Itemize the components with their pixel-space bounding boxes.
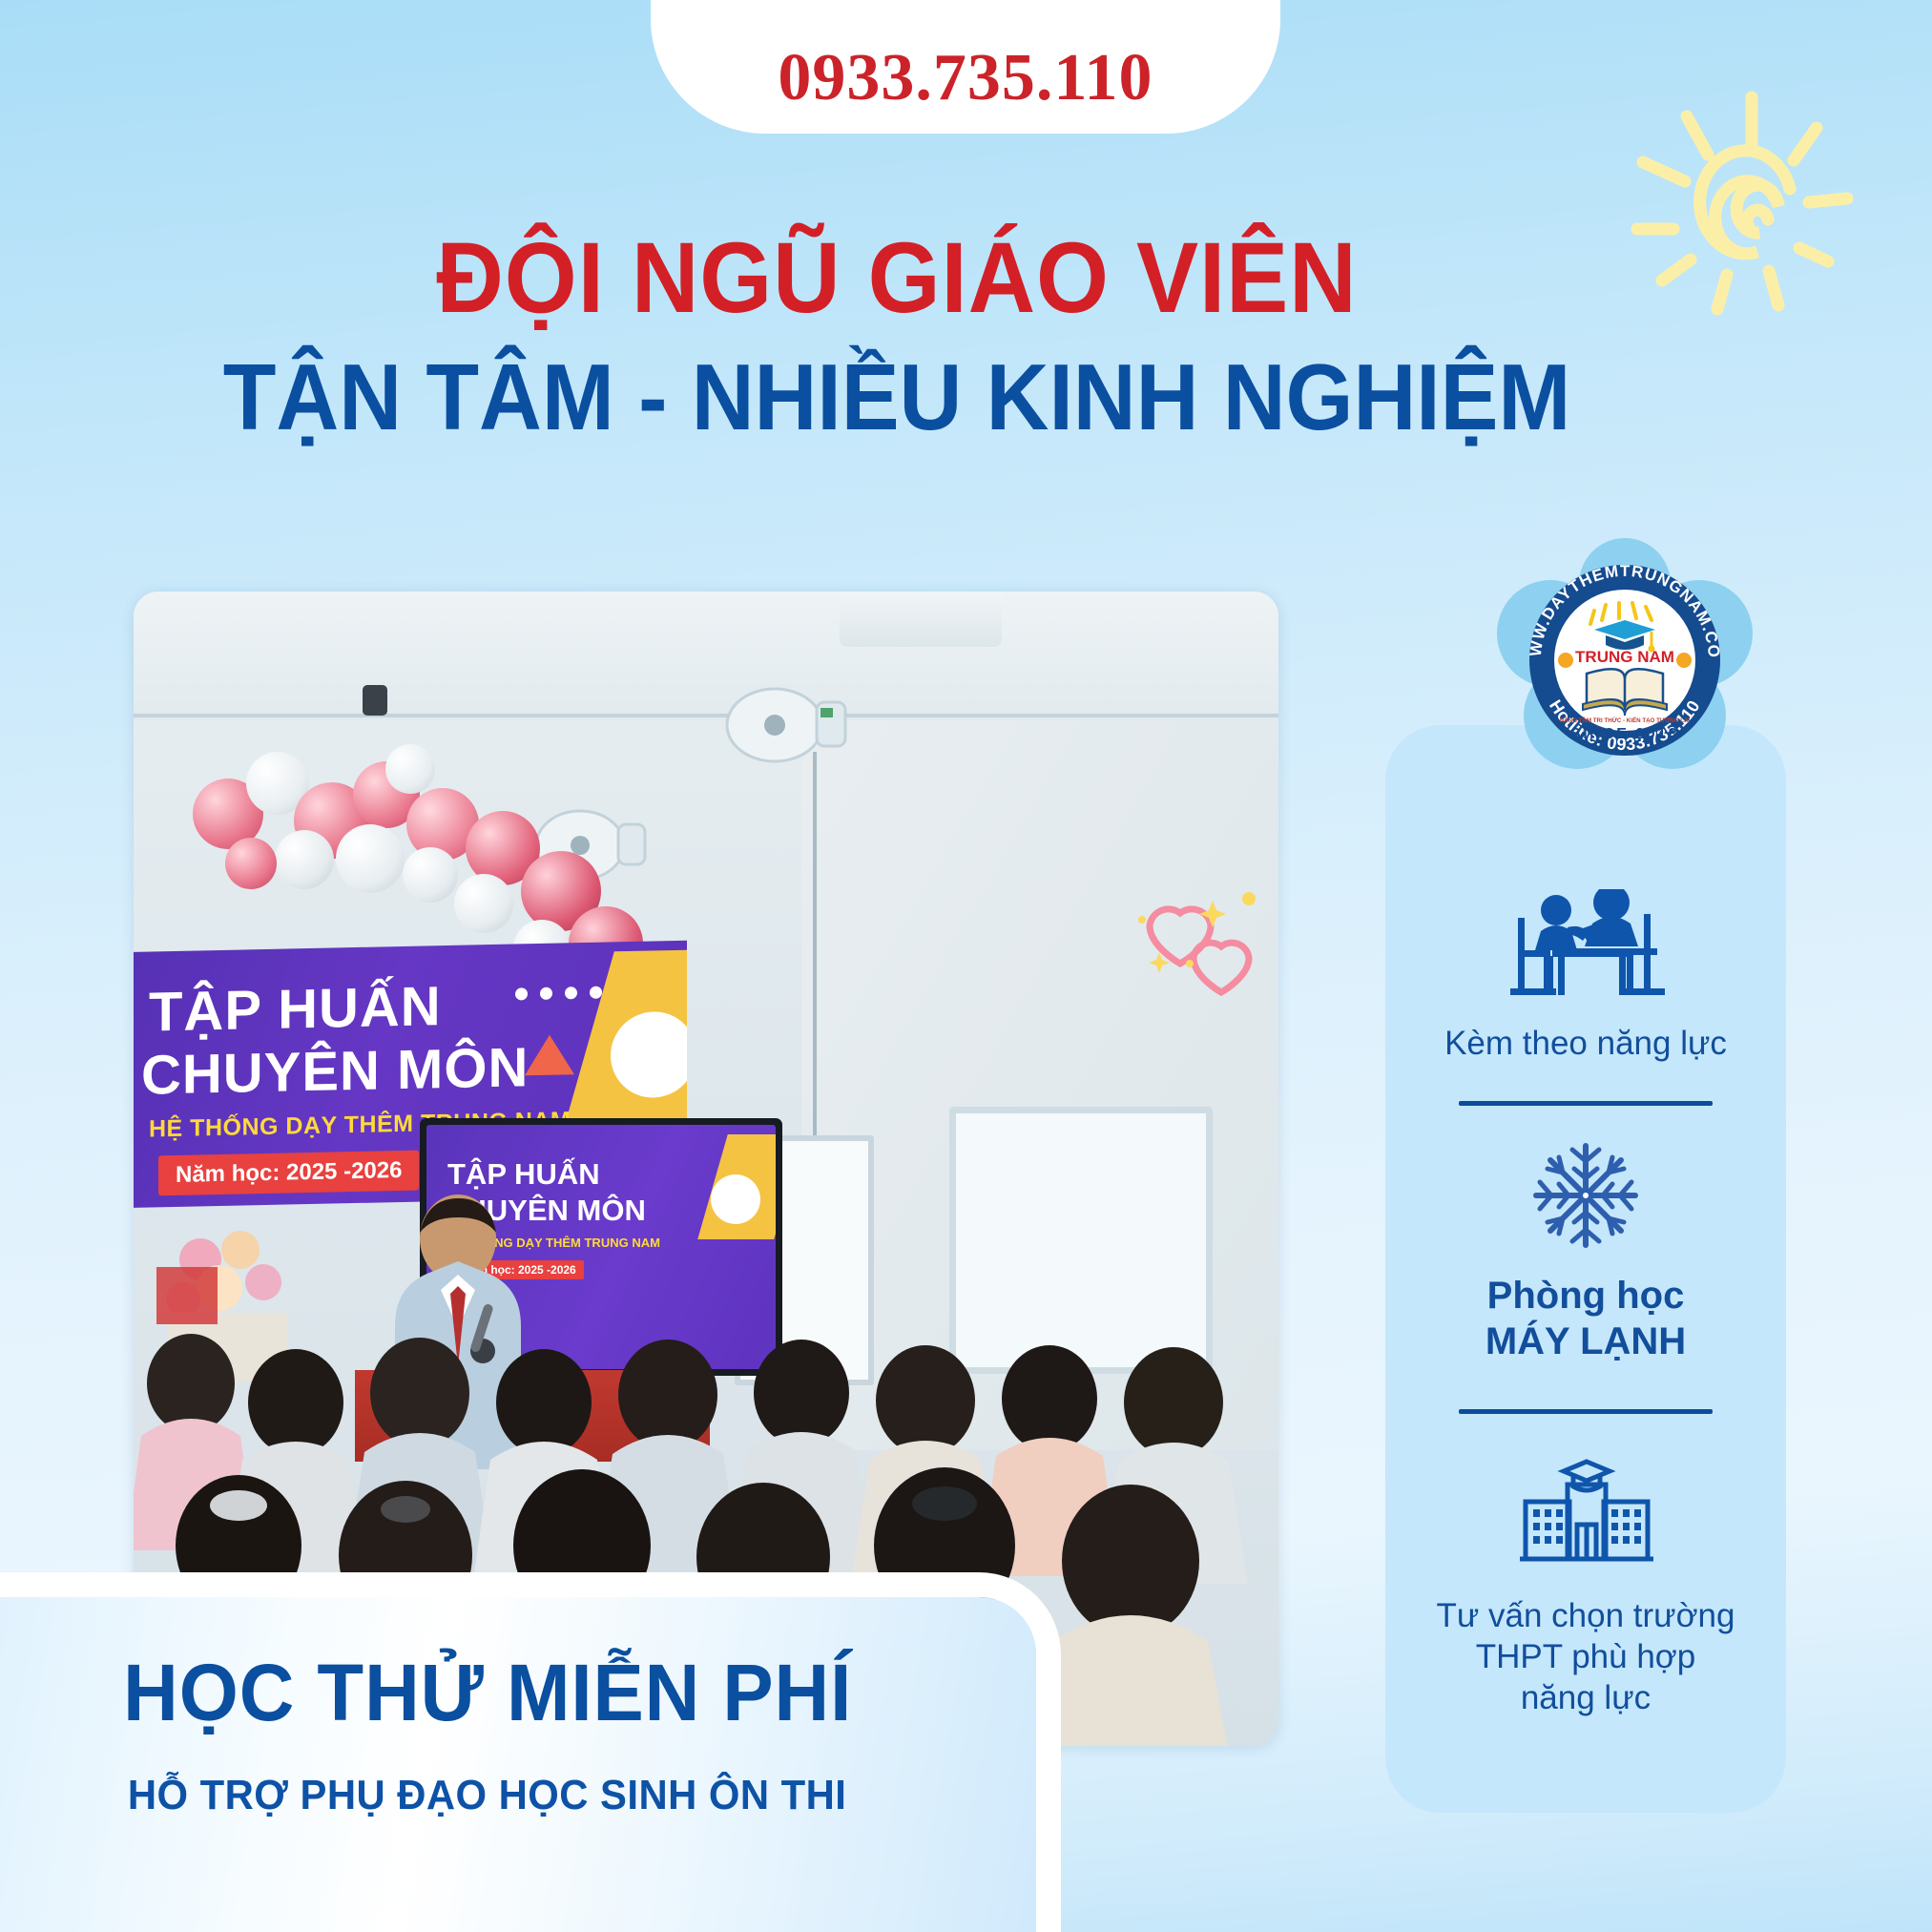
feature-item-1: Kèm theo năng lực	[1385, 889, 1786, 1065]
balloon	[225, 838, 277, 889]
balloon	[385, 744, 435, 794]
badge-tagline: NÂNG TẦM TRI THỨC - KIẾN TẠO TƯƠNG LAI	[1560, 717, 1691, 724]
badge-since: SINCE 2018	[1570, 726, 1679, 742]
poster-root: 0933.735.110 ĐỘI NGŨ GIÁO VIÊN TẬN TÂM -…	[0, 0, 1932, 1932]
features-panel: Kèm theo năng lực	[1385, 725, 1786, 1813]
brand-badge: WWW.DAYTHEMTRUNGNAM.COM Hotline: 0933.73…	[1482, 534, 1768, 782]
banner-title-line-1: TẬP HUẤN	[149, 974, 442, 1044]
camera-icon	[363, 685, 387, 716]
feature-label-2-line-1: Phòng học	[1472, 1273, 1700, 1319]
ceiling	[134, 592, 1278, 720]
badge-name: TRUNG NAM	[1575, 648, 1674, 666]
balloon	[275, 830, 334, 889]
feature-divider-1	[1459, 1101, 1713, 1106]
phone-pill: 0933.735.110	[651, 0, 1280, 134]
cta-line-1: HỌC THỬ MIỄN PHÍ	[123, 1647, 852, 1739]
banner-triangle	[525, 1034, 574, 1075]
feature-divider-2	[1459, 1409, 1713, 1414]
school-building-icon	[1514, 1452, 1657, 1581]
classroom-photo: TẬP HUẤN CHUYÊN MÔN HỆ THỐNG DẠY THÊM TR…	[134, 592, 1278, 1746]
balloon	[403, 847, 458, 903]
balloon	[454, 874, 513, 933]
feature-label-3-line-3: năng lực	[1506, 1678, 1666, 1719]
classroom-photo-image: TẬP HUẤN CHUYÊN MÔN HỆ THỐNG DẠY THÊM TR…	[134, 592, 1278, 1746]
feature-label-3-line-2: THPT phù hợp	[1461, 1637, 1711, 1678]
tv-logo-circle	[711, 1174, 760, 1224]
balloon	[336, 824, 405, 893]
headline-block: ĐỘI NGŨ GIÁO VIÊN TẬN TÂM - NHIỀU KINH N…	[0, 224, 1794, 450]
feature-label-2-line-2: MÁY LẠNH	[1470, 1319, 1701, 1365]
banner-title-line-2: CHUYÊN MÔN	[141, 1035, 529, 1108]
phone-number[interactable]: 0933.735.110	[778, 40, 1153, 116]
headline-line-2: TẬN TÂM - NHIỀU KINH NGHIỆM	[63, 345, 1731, 450]
feature-label-1: Kèm theo năng lực	[1429, 1024, 1742, 1065]
feature-label-3-line-1: Tư vấn chọn trường	[1421, 1596, 1750, 1637]
feature-item-3: Tư vấn chọn trường THPT phù hợp năng lực	[1385, 1452, 1786, 1718]
air-conditioner-icon	[840, 592, 1002, 647]
ceiling-seam	[134, 714, 1278, 717]
banner-dots	[515, 986, 620, 1001]
heart-doodle-icon	[1121, 880, 1278, 1004]
cta-line-2: HỖ TRỢ PHỤ ĐẠO HỌC SINH ÔN THI	[128, 1772, 847, 1819]
snowflake-icon	[1528, 1138, 1643, 1257]
feature-item-2: Phòng học MÁY LẠNH	[1385, 1138, 1786, 1366]
wall-fan-icon	[725, 687, 849, 782]
tutoring-desk-icon	[1505, 889, 1667, 1008]
headline-line-1: ĐỘI NGŨ GIÁO VIÊN	[63, 224, 1731, 332]
bottom-cta-banner: HỌC THỬ MIỄN PHÍ HỖ TRỢ PHỤ ĐẠO HỌC SINH…	[0, 1597, 1036, 1932]
